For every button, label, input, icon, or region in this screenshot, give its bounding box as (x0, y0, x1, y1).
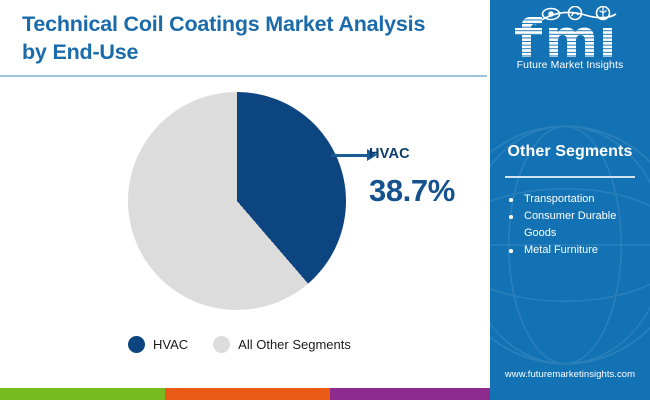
list-item: Metal Furniture (508, 242, 643, 259)
title-divider (0, 75, 487, 77)
legend-label: All Other Segments (238, 337, 351, 352)
page-title: Technical Coil Coatings Market Analysis … (22, 10, 452, 67)
fmi-logo: Future Market Insights (490, 6, 650, 71)
legend-item-other-segments: All Other Segments (213, 336, 351, 353)
bottom-color-stripe (0, 388, 650, 400)
stripe-segment-purple (330, 388, 490, 400)
stripe-segment-orange (165, 388, 330, 400)
chart-panel: Technical Coil Coatings Market Analysis … (0, 0, 490, 388)
list-item: Transportation (508, 191, 643, 208)
side-panel-divider (505, 176, 635, 178)
fmi-logo-icon (505, 6, 635, 58)
pie-slices (128, 92, 346, 310)
list-item: Consumer Durable Goods (508, 208, 643, 242)
fmi-logo-tagline: Future Market Insights (490, 59, 650, 71)
callout-label: HVAC (369, 146, 410, 162)
stripe-segment-blue (490, 388, 650, 400)
arrow-shaft (331, 154, 369, 157)
pie-chart (128, 92, 346, 310)
stripe-segment-green (0, 388, 165, 400)
website-url[interactable]: www.futuremarketinsights.com (490, 369, 650, 380)
infographic-root: Technical Coil Coatings Market Analysis … (0, 0, 650, 400)
chart-legend: HVAC All Other Segments (128, 336, 388, 353)
legend-label: HVAC (153, 337, 188, 352)
legend-swatch-icon (128, 336, 145, 353)
side-panel-heading: Other Segments (490, 143, 650, 161)
side-panel: Future Market Insights Other Segments Tr… (490, 0, 650, 388)
callout-value: 38.7% (369, 173, 455, 209)
legend-swatch-icon (213, 336, 230, 353)
legend-item-hvac: HVAC (128, 336, 188, 353)
side-panel-list: Transportation Consumer Durable Goods Me… (508, 191, 643, 259)
